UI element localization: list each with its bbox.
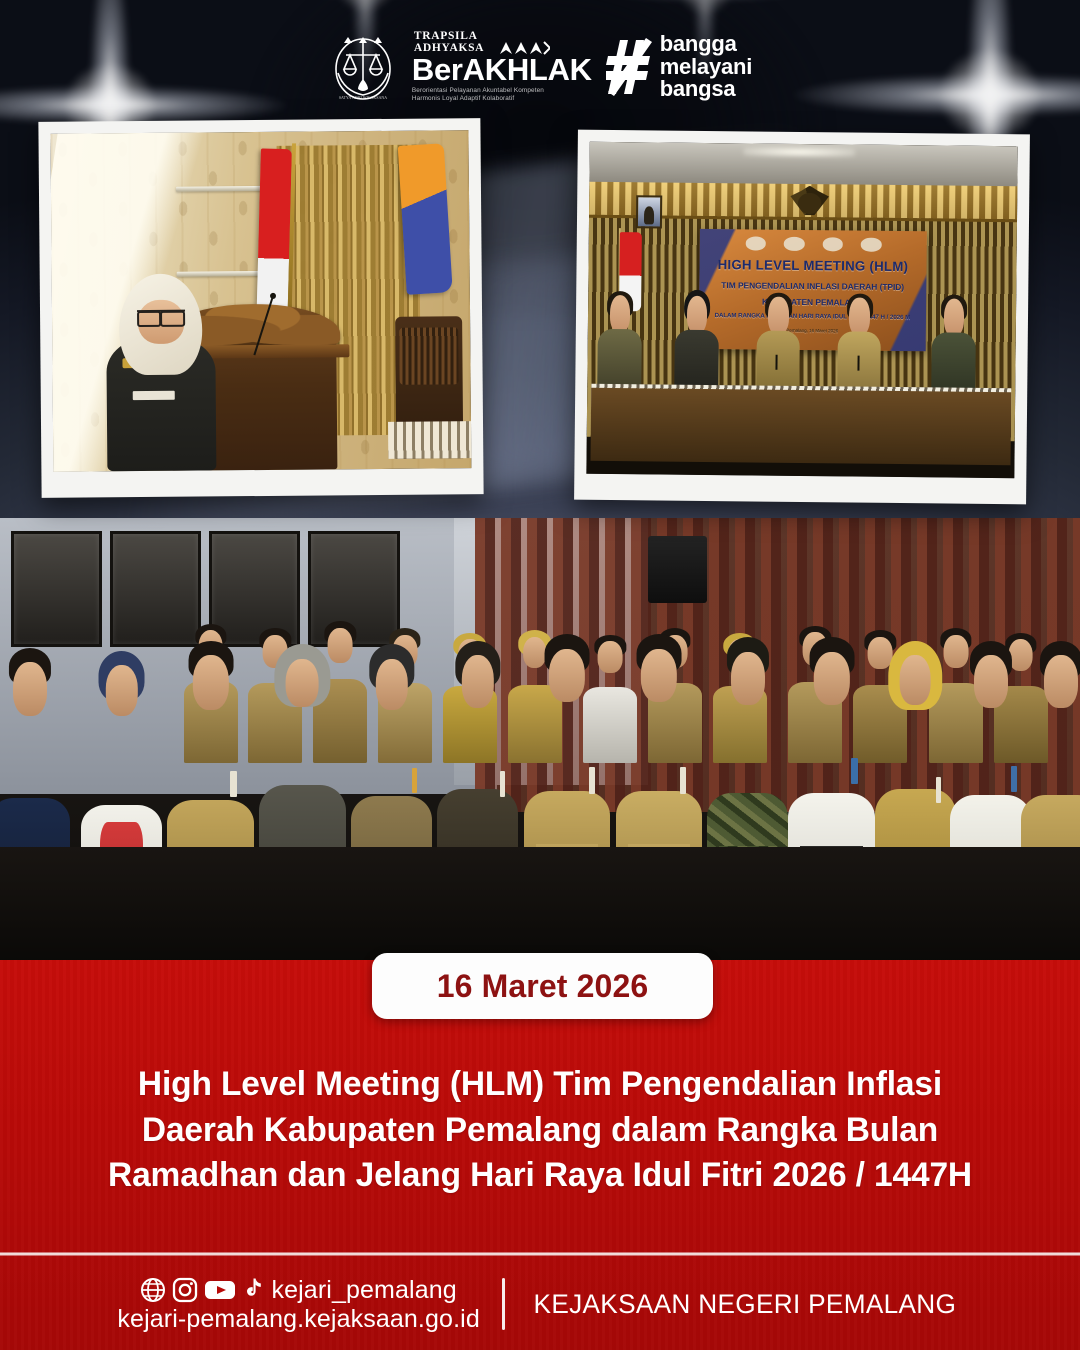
website-url-text[interactable]: kejari-pemalang.kejaksaan.go.id: [117, 1305, 479, 1333]
speaker-glasses: [137, 309, 185, 324]
speaker-figure: [106, 261, 216, 471]
svg-text:SATYA ADHI WICAKSANA: SATYA ADHI WICAKSANA: [339, 95, 387, 100]
bangga-line-1: bangga: [660, 33, 752, 55]
ceiling-light: [744, 147, 855, 158]
berakhlak-tagline-1: Berorientasi Pelayanan Akuntabel Kompete…: [412, 87, 592, 95]
globe-icon[interactable]: [140, 1277, 166, 1303]
date-badge-text: 16 Maret 2026: [437, 968, 649, 1005]
kejaksaan-ri-emblem-icon: SATYA ADHI WICAKSANA: [328, 29, 398, 105]
panel-seated-row: [587, 294, 1016, 398]
panelist-figure: [596, 295, 644, 395]
secondary-flag-icon: [398, 143, 453, 294]
headline-block: High Level Meeting (HLM) Tim Pengendalia…: [52, 1062, 1028, 1199]
banner-logo-strip: [700, 236, 927, 252]
president-portrait: [636, 195, 662, 228]
banner-line-2: TIM PENGENDALIAN INFLASI DAERAH (TPID): [702, 279, 924, 291]
panelist-figure: [835, 297, 883, 397]
panel-table: [591, 388, 1011, 465]
footer-vertical-divider: [502, 1278, 505, 1330]
berakhlak-tagline-2: Harmonis Loyal Adaptif Kolaboratif: [412, 95, 592, 103]
photo-speech-image: [50, 130, 471, 472]
group-photo: [0, 518, 1080, 963]
headline-line-2: Daerah Kabupaten Pemalang dalam Rangka B…: [59, 1108, 1020, 1154]
header-logo-lockup: SATYA ADHI WICAKSANA TRAPSILA ADHYAKSA B…: [0, 22, 1080, 112]
social-icon-group: [140, 1277, 264, 1303]
footer-bar: kejari_pemalang kejari-pemalang.kejaksaa…: [0, 1258, 1080, 1350]
bangga-wordmark: bangga melayani bangsa: [660, 33, 752, 100]
social-handle-row: kejari_pemalang: [140, 1276, 456, 1304]
berakhlak-wordmark: BerAKHLAK: [412, 54, 592, 85]
photo-card-panel[interactable]: HIGH LEVEL MEETING (HLM) TIM PENGENDALIA…: [574, 130, 1030, 505]
organization-name-text: KEJAKSAAN NEGERI PEMALANG: [533, 1289, 956, 1320]
not-equal-hash-icon: [606, 38, 652, 96]
instagram-icon[interactable]: [172, 1277, 198, 1303]
photo-card-speech[interactable]: [38, 118, 483, 498]
bangga-melayani-bangsa-logo: bangga melayani bangsa: [606, 33, 752, 100]
hall-floor: [0, 847, 1080, 963]
footer-divider: [0, 1252, 1080, 1256]
panelist-figure: [673, 295, 721, 395]
berakhlak-star-icons: [498, 40, 550, 56]
bangga-line-2: melayani: [660, 56, 752, 78]
panelist-figure: [930, 298, 978, 398]
poster-canvas: SATYA ADHI WICAKSANA TRAPSILA ADHYAKSA B…: [0, 0, 1080, 1350]
panelist-figure: [754, 296, 802, 396]
berakhlak-tagline: Berorientasi Pelayanan Akuntabel Kompete…: [412, 87, 592, 103]
berakhlak-logo: TRAPSILA ADHYAKSA BerAKHLAK Berorientasi…: [412, 31, 592, 103]
photo-panel-image: HIGH LEVEL MEETING (HLM) TIM PENGENDALIA…: [586, 142, 1017, 478]
tiktok-icon[interactable]: [242, 1277, 264, 1303]
bangga-line-3: bangsa: [660, 78, 752, 100]
youtube-icon[interactable]: [204, 1277, 236, 1303]
banner-line-1: HIGH LEVEL MEETING (HLM): [702, 257, 924, 274]
social-contact-block: kejari_pemalang kejari-pemalang.kejaksaa…: [117, 1276, 479, 1333]
headline-line-3: Ramadhan dan Jelang Hari Raya Idul Fitri…: [59, 1153, 1020, 1199]
berakhlak-text: BerAKHLAK: [412, 54, 592, 85]
headline-line-1: High Level Meeting (HLM) Tim Pengendalia…: [59, 1062, 1020, 1108]
date-badge: 16 Maret 2026: [372, 953, 713, 1019]
social-handle-text[interactable]: kejari_pemalang: [271, 1276, 456, 1304]
carved-chair: [395, 316, 463, 459]
